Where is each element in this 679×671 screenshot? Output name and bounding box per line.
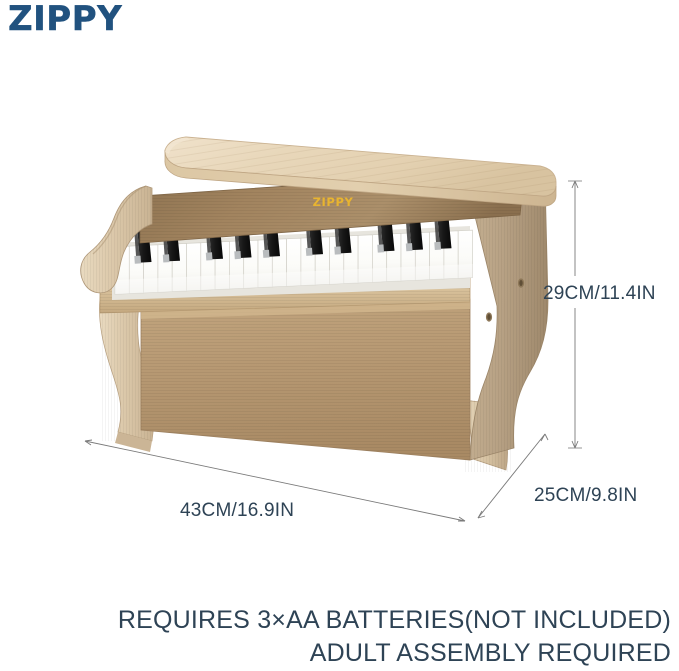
dimension-width-label: 43CM/16.9IN [180, 500, 294, 522]
toy-piano-illustration: ZIPPY [0, 0, 679, 560]
footer-notice: REQUIRES 3×AA BATTERIES(NOT INCLUDED) AD… [0, 604, 671, 669]
piano-side-panel [470, 178, 548, 460]
footer-line-assembly: ADULT ASSEMBLY REQUIRED [0, 637, 671, 670]
dimension-height-label: 29CM/11.4IN [543, 283, 656, 305]
dimension-depth-label: 25CM/9.8IN [534, 485, 637, 507]
product-image-canvas: ZIPPY [0, 0, 679, 671]
cabinet-logo-text: ZIPPY [313, 195, 354, 209]
piano-front-panel [141, 299, 470, 460]
footer-line-batteries: REQUIRES 3×AA BATTERIES(NOT INCLUDED) [0, 604, 671, 637]
